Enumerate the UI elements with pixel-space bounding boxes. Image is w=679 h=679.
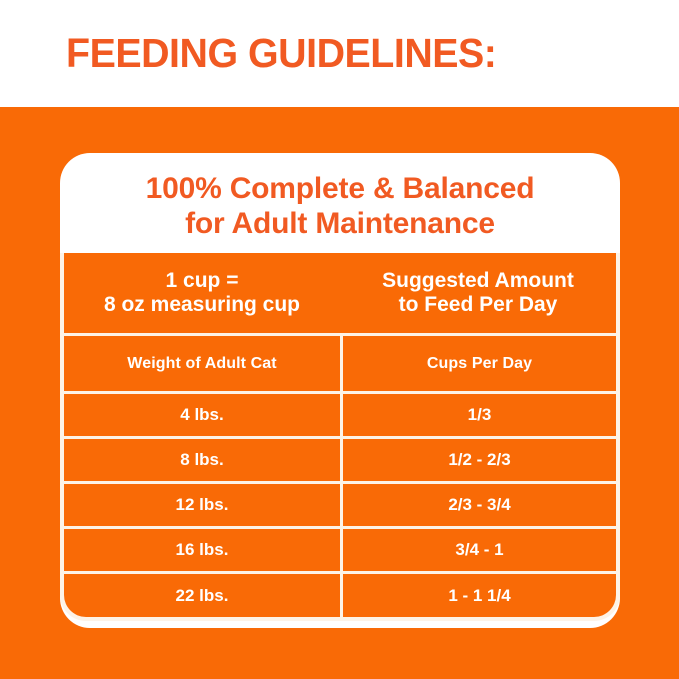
card-title: 100% Complete & Balanced for Adult Maint… bbox=[60, 153, 620, 242]
column-header-cups: Cups Per Day bbox=[340, 336, 616, 391]
cell-cups: 1 - 1 1/4 bbox=[340, 574, 616, 617]
table-banner-row: 1 cup = 8 oz measuring cup Suggested Amo… bbox=[64, 253, 616, 333]
card-title-line-1: 100% Complete & Balanced bbox=[60, 171, 620, 206]
cell-weight: 16 lbs. bbox=[64, 529, 340, 571]
banner-right-line-2: to Feed Per Day bbox=[382, 293, 574, 317]
cell-cups: 3/4 - 1 bbox=[340, 529, 616, 571]
banner-right-line-1: Suggested Amount bbox=[382, 269, 574, 293]
feeding-table: 1 cup = 8 oz measuring cup Suggested Amo… bbox=[60, 253, 620, 621]
table-header-row: Weight of Adult Cat Cups Per Day bbox=[64, 333, 616, 391]
column-header-weight: Weight of Adult Cat bbox=[64, 336, 340, 391]
page-title: FEEDING GUIDELINES: bbox=[66, 30, 496, 77]
cell-cups: 1/2 - 2/3 bbox=[340, 439, 616, 481]
banner-left-line-2: 8 oz measuring cup bbox=[104, 293, 300, 317]
feeding-guidelines-panel: FEEDING GUIDELINES: 100% Complete & Bala… bbox=[0, 0, 679, 679]
banner-left-line-1: 1 cup = bbox=[104, 269, 300, 293]
orange-background: 100% Complete & Balanced for Adult Maint… bbox=[0, 107, 679, 679]
table-row: 4 lbs. 1/3 bbox=[64, 391, 616, 436]
cell-weight: 12 lbs. bbox=[64, 484, 340, 526]
table-row: 12 lbs. 2/3 - 3/4 bbox=[64, 481, 616, 526]
card-title-line-2: for Adult Maintenance bbox=[60, 206, 620, 241]
guidelines-card: 100% Complete & Balanced for Adult Maint… bbox=[60, 153, 620, 628]
cell-cups: 2/3 - 3/4 bbox=[340, 484, 616, 526]
table-row: 22 lbs. 1 - 1 1/4 bbox=[64, 571, 616, 617]
banner-cell-measuring-cup: 1 cup = 8 oz measuring cup bbox=[64, 253, 340, 333]
cell-weight: 4 lbs. bbox=[64, 394, 340, 436]
cell-weight: 22 lbs. bbox=[64, 574, 340, 617]
header-band: FEEDING GUIDELINES: bbox=[0, 0, 679, 107]
banner-cell-suggested-amount: Suggested Amount to Feed Per Day bbox=[340, 253, 616, 333]
cell-weight: 8 lbs. bbox=[64, 439, 340, 481]
table-row: 16 lbs. 3/4 - 1 bbox=[64, 526, 616, 571]
cell-cups: 1/3 bbox=[340, 394, 616, 436]
table-row: 8 lbs. 1/2 - 2/3 bbox=[64, 436, 616, 481]
